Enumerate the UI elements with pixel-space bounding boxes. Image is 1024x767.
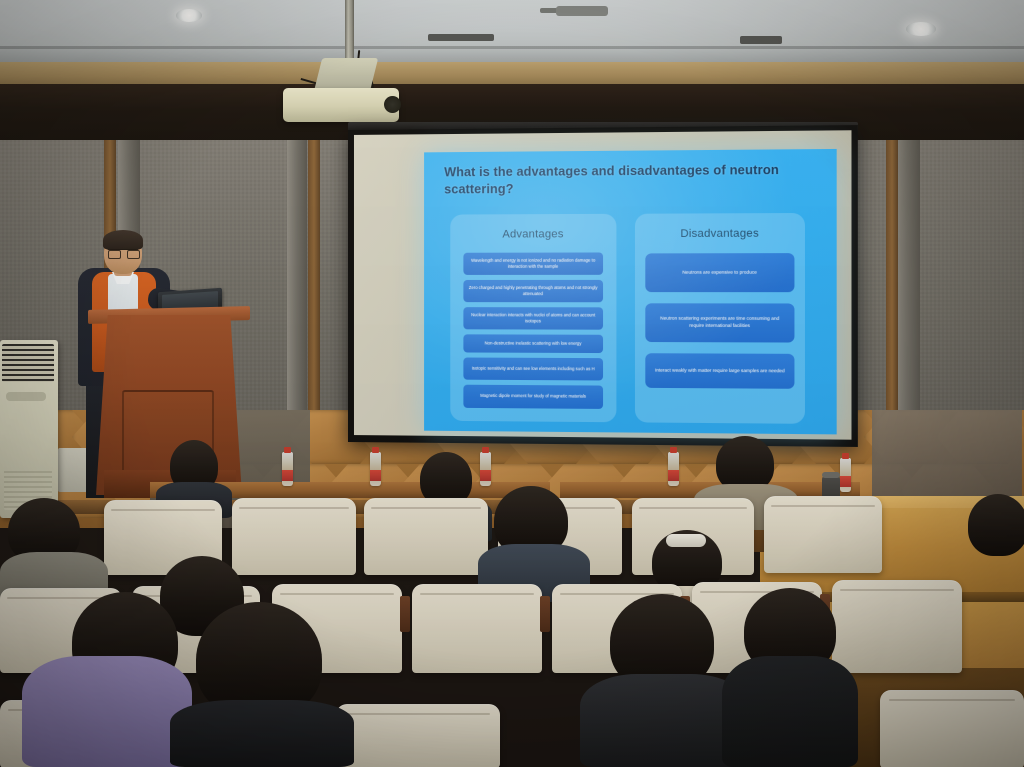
tumbler-lid — [822, 472, 840, 478]
disadvantage-item: Neutrons are expensive to produce — [645, 253, 794, 292]
slide-title: What is the advantages and disadvantages… — [444, 162, 810, 198]
ceiling-vent — [428, 34, 494, 41]
lecture-hall-photo: What is the advantages and disadvantages… — [0, 0, 1024, 767]
water-bottle — [840, 458, 851, 492]
advantage-item: Nuclear interaction interacts with nucle… — [463, 307, 603, 330]
column-heading-advantages: Advantages — [450, 228, 616, 241]
disadvantage-item: Interact weakly with matter require larg… — [645, 353, 794, 389]
auditorium-seat[interactable] — [336, 704, 500, 767]
slide-column-advantages: Advantages Wavelength and energy is not … — [450, 214, 616, 422]
slide-column-disadvantages: Disadvantages Neutrons are expensive to … — [635, 213, 805, 424]
screen-surface: What is the advantages and disadvantages… — [354, 130, 852, 439]
advantage-item: Zero charged and highly penetrating thro… — [463, 280, 603, 302]
audience-shoulders — [22, 656, 192, 767]
auditorium-seat[interactable] — [880, 690, 1024, 767]
advantage-item: Magnetic dipole moment for study of magn… — [463, 385, 603, 409]
ac-grille — [2, 344, 54, 382]
advantage-item: Non-destructive inelastic scattering wit… — [463, 334, 603, 353]
auditorium-seat[interactable] — [832, 580, 962, 673]
ceiling-light-icon — [906, 22, 936, 36]
glasses-lens — [127, 250, 140, 259]
ac-logo — [6, 392, 46, 401]
hair-band — [666, 534, 706, 547]
auditorium-seat[interactable] — [232, 498, 356, 575]
projector-arm — [314, 58, 378, 92]
column-heading-disadvantages: Disadvantages — [635, 227, 805, 240]
advantage-item: Isotopic sensitivity and can see low ele… — [463, 358, 603, 381]
auditorium-seat[interactable] — [412, 584, 542, 673]
presentation-slide: What is the advantages and disadvantages… — [424, 149, 837, 434]
projector-icon — [283, 88, 399, 122]
water-bottle — [370, 452, 381, 486]
projection-screen: What is the advantages and disadvantages… — [348, 125, 858, 447]
ceiling-vent — [556, 6, 608, 16]
auditorium-seat[interactable] — [364, 498, 488, 575]
bottle-label — [840, 476, 851, 487]
seat-armrest — [400, 596, 410, 632]
glasses-icon — [108, 249, 138, 257]
advantage-item: Wavelength and energy is not ionized and… — [463, 252, 603, 274]
bottle-cap — [670, 447, 677, 453]
water-bottle — [480, 452, 491, 486]
auditorium-seat[interactable] — [764, 496, 882, 573]
bottle-cap — [372, 447, 379, 453]
glasses-lens — [108, 250, 121, 259]
audience-shoulders — [722, 656, 858, 767]
ceiling-light-icon — [176, 9, 202, 22]
bottle-cap — [482, 447, 489, 453]
bottle-cap — [842, 453, 849, 459]
seat-armrest — [540, 596, 550, 632]
water-bottle — [668, 452, 679, 486]
ceiling — [0, 0, 1024, 62]
bottle-label — [282, 470, 293, 481]
presenter-hair — [103, 230, 143, 250]
water-bottle — [282, 452, 293, 486]
audience-head — [968, 494, 1024, 556]
air-conditioner-icon — [0, 340, 58, 518]
audience-shoulders — [170, 700, 354, 767]
bottle-label — [668, 470, 679, 481]
bottle-cap — [284, 447, 291, 453]
bottle-label — [370, 470, 381, 481]
projector-lens — [384, 96, 401, 113]
disadvantage-item: Neutron scattering experiments are time … — [645, 303, 794, 342]
bottle-label — [480, 470, 491, 481]
ceiling-vent — [740, 36, 782, 44]
ceiling-seam — [0, 46, 1024, 49]
